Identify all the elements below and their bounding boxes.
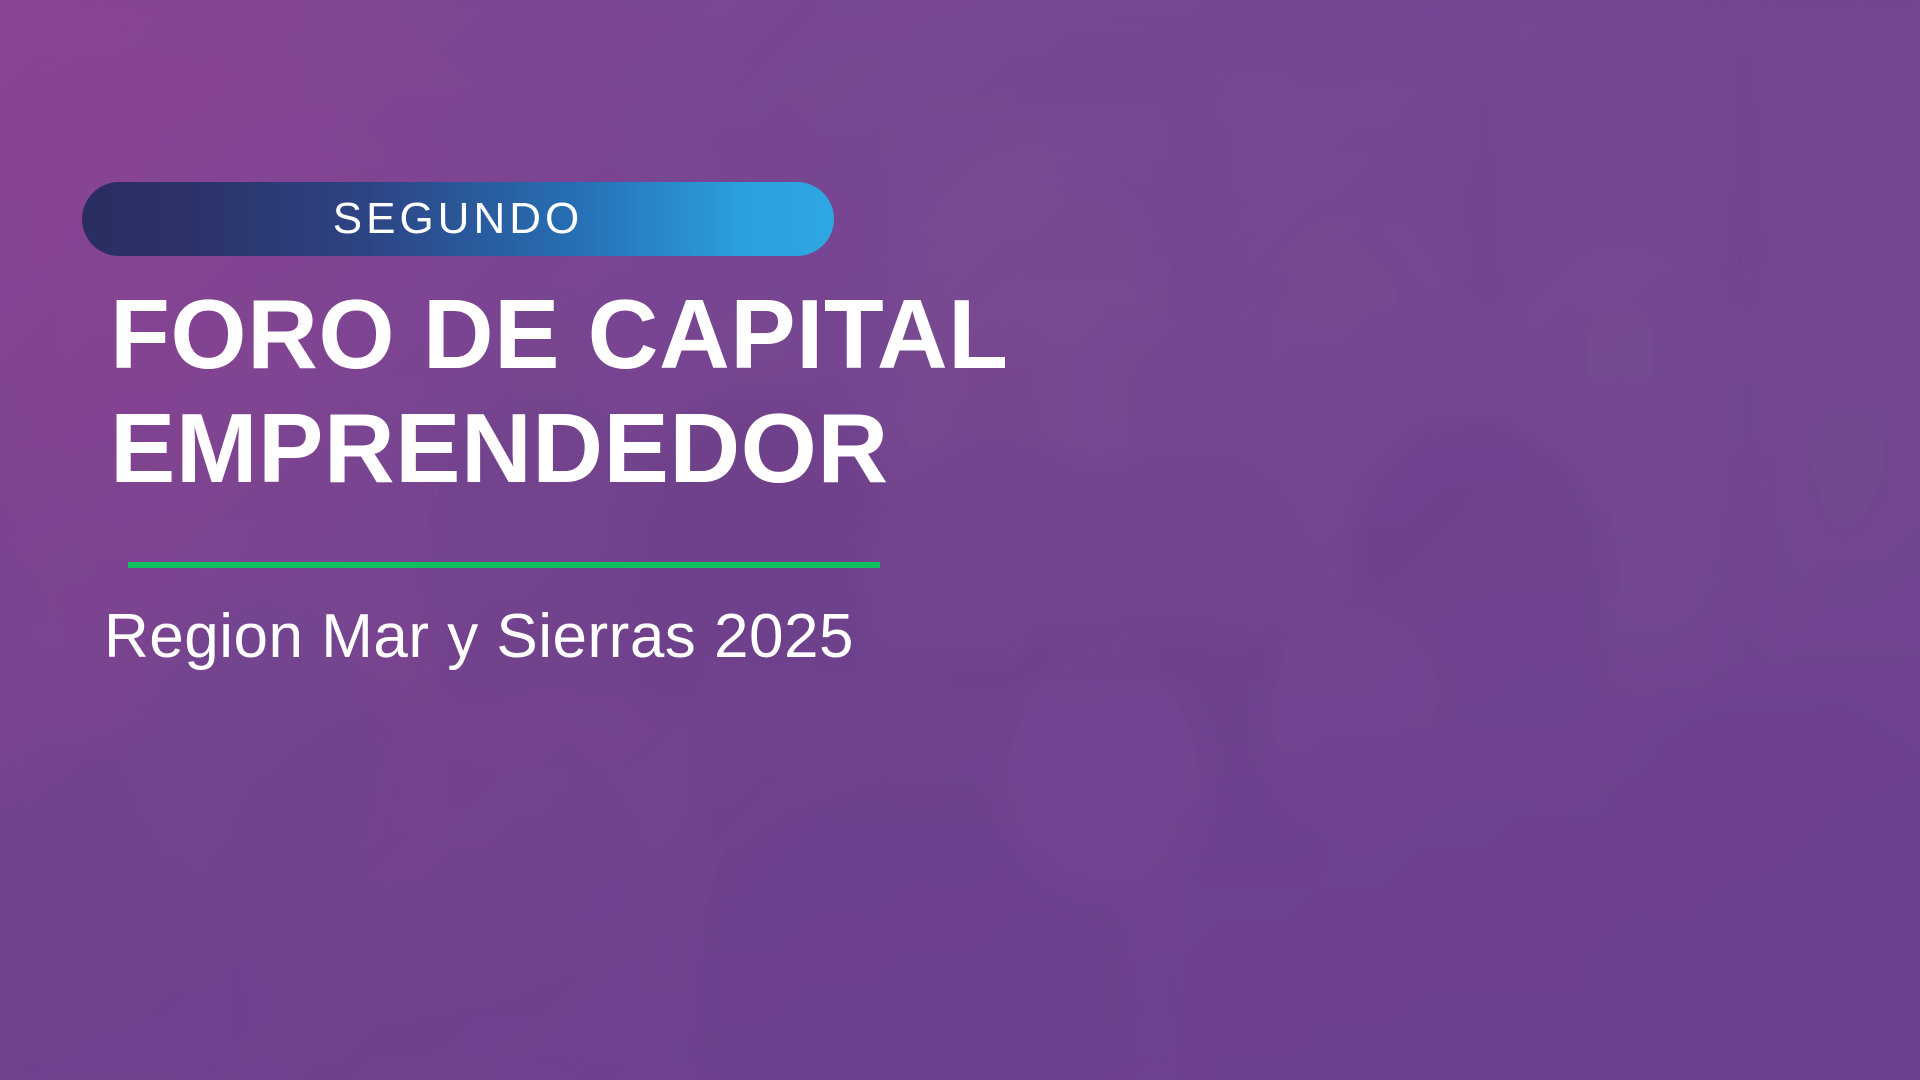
title-divider-rule	[128, 562, 880, 568]
event-subtitle: Region Mar y Sierras 2025	[104, 600, 854, 674]
ordinal-badge-label: SEGUNDO	[333, 197, 583, 241]
event-banner: SEGUNDO FORO DE CAPITAL EMPRENDEDOR Regi…	[0, 0, 1920, 1080]
ordinal-badge: SEGUNDO	[82, 182, 834, 256]
banner-content: SEGUNDO FORO DE CAPITAL EMPRENDEDOR Regi…	[0, 0, 1920, 1080]
event-title: FORO DE CAPITAL EMPRENDEDOR	[110, 278, 1210, 505]
